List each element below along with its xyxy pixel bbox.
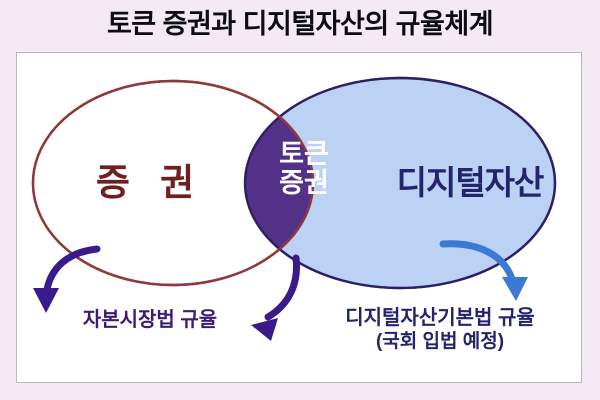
venn-right-label: 디지털자산 [375,165,565,201]
venn-left-label: 증 권 [60,163,240,203]
intersection-label-line2: 증권 [279,168,329,198]
left-caption: 자본시장법 규율 [40,310,260,332]
venn-intersection-label: 토큰 증권 [250,140,358,198]
right-caption-main: 디지털자산기본법 규율 [345,307,535,329]
right-caption-sub: (국회 입법 예정) [310,332,570,353]
right-caption: 디지털자산기본법 규율 (국회 입법 예정) [310,308,570,352]
diagram-page: 토큰 증권과 디지털자산의 규율체계 [0,0,600,400]
intersection-label-line1: 토큰 [279,139,329,169]
page-title: 토큰 증권과 디지털자산의 규율체계 [0,2,600,46]
